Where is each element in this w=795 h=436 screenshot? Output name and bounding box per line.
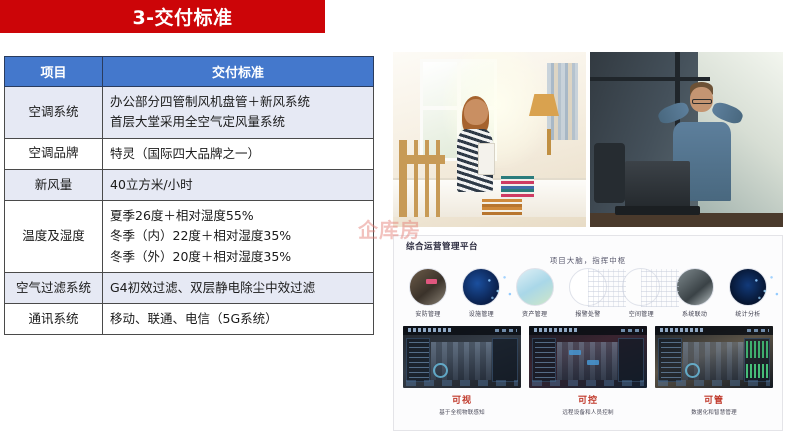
system-link-icon (676, 268, 714, 306)
value-line: 移动、联通、电信（5G系统） (110, 309, 373, 329)
capability-label: 安防管理 (404, 309, 452, 318)
table-row: 空调品牌 特灵（国际四大品牌之一） (5, 138, 374, 169)
panel-footer-shape (406, 380, 518, 386)
space-grid-icon (622, 268, 660, 306)
book-stack-shape (501, 176, 534, 199)
capability-item: 报警处警 (564, 268, 612, 318)
office-chair-shape (594, 143, 625, 203)
alarm-chart-icon (569, 268, 607, 306)
value-line: 40立方米/小时 (110, 175, 373, 195)
capability-label: 报警处警 (564, 309, 612, 318)
bar-chart-shape (746, 341, 768, 358)
row-label: 空调品牌 (5, 138, 103, 169)
capability-item: 安防管理 (404, 268, 452, 318)
capability-label: 设施管理 (457, 309, 505, 318)
info-tag-shape (569, 350, 581, 355)
dashboard-3d-icon (403, 326, 521, 388)
table-row: 新风量 40立方米/小时 (5, 169, 374, 200)
row-label: 空调系统 (5, 87, 103, 139)
column-header-standard: 交付标准 (103, 57, 374, 87)
value-line: 夏季26度＋相对湿度55% (110, 206, 373, 226)
capability-item: 统计分析 (724, 268, 772, 318)
photo-pair (393, 52, 783, 227)
platform-panel: 可控 远程设备和人员控制 (529, 326, 647, 416)
column-header-item: 项目 (5, 57, 103, 87)
spec-table: 项目 交付标准 空调系统 办公部分四管制风机盘管＋新风系统 首层大堂采用全空气定… (4, 56, 374, 335)
platform-panel: 可视 基于全视物联感知 (403, 326, 521, 416)
dashboard-control-icon (529, 326, 647, 388)
row-label: 新风量 (5, 169, 103, 200)
capability-label: 空间管理 (617, 309, 665, 318)
laptop-shape (625, 161, 691, 210)
capability-label: 统计分析 (724, 309, 772, 318)
monitor-shape (478, 143, 495, 175)
row-label: 通讯系统 (5, 304, 103, 335)
window-mullion-shape (590, 77, 710, 81)
panel-left-widget (658, 338, 682, 382)
panel-subcaption: 数据化和智慧管理 (655, 408, 773, 416)
facility-network-icon (462, 268, 500, 306)
row-value: 特灵（国际四大品牌之一） (103, 138, 374, 169)
panel-caption: 可管 (655, 393, 773, 406)
dashboard-manage-icon (655, 326, 773, 388)
panel-heading-shape (408, 328, 452, 332)
title-banner: 3-交付标准 (0, 0, 325, 33)
chair-shape (399, 140, 445, 217)
panel-heading-shape (660, 328, 704, 332)
delivery-standard-table: 项目 交付标准 空调系统 办公部分四管制风机盘管＋新风系统 首层大堂采用全空气定… (4, 56, 373, 335)
platform-panel-list: 可视 基于全视物联感知 可控 远程设备和人员控制 (403, 326, 773, 416)
gauge-ring-shape (685, 363, 700, 378)
desk-shape (590, 213, 783, 227)
info-tag-shape (587, 360, 599, 365)
bar-chart-shape (746, 364, 768, 378)
panel-subcaption: 远程设备和人员控制 (529, 408, 647, 416)
value-line: 首层大堂采用全空气定风量系统 (110, 112, 373, 132)
table-row: 温度及湿度 夏季26度＋相对湿度55% 冬季（内）22度＋相对湿度35% 冬季（… (5, 201, 374, 273)
row-value: G4初效过滤、双层静电除尘中效过滤 (103, 272, 374, 303)
man-relaxing-at-laptop-photo (590, 52, 783, 227)
person-head-shape (464, 99, 488, 125)
value-line: 冬季（外）20度＋相对湿度35% (110, 247, 373, 267)
table-row: 空调系统 办公部分四管制风机盘管＋新风系统 首层大堂采用全空气定风量系统 (5, 87, 374, 139)
panel-footer-shape (532, 380, 644, 386)
eyeglasses-icon (692, 99, 712, 104)
capability-item: 设施管理 (457, 268, 505, 318)
capability-label: 资产管理 (511, 309, 559, 318)
row-label: 空气过滤系统 (5, 272, 103, 303)
value-line: 办公部分四管制风机盘管＋新风系统 (110, 92, 373, 112)
analytics-icon (729, 268, 767, 306)
panel-subcaption: 基于全视物联感知 (403, 408, 521, 416)
gauge-ring-shape (433, 363, 448, 378)
lamp-arm-shape (547, 129, 551, 155)
platform-subtitle: 项目大脑，指挥中枢 (394, 255, 782, 266)
table-row: 空气过滤系统 G4初效过滤、双层静电除尘中效过滤 (5, 272, 374, 303)
operations-platform-graphic: 综合运营管理平台 项目大脑，指挥中枢 安防管理 设施管理 资产管理 报警处警 (393, 235, 783, 431)
panel-right-widget (618, 338, 644, 382)
row-label: 温度及湿度 (5, 201, 103, 273)
table-header-row: 项目 交付标准 (5, 57, 374, 87)
capability-label: 系统联动 (671, 309, 719, 318)
panel-caption: 可视 (403, 393, 521, 406)
platform-title: 综合运营管理平台 (406, 240, 478, 252)
page-title: 3-交付标准 (92, 3, 232, 30)
platform-panel: 可管 数据化和智慧管理 (655, 326, 773, 416)
row-value: 40立方米/小时 (103, 169, 374, 200)
panel-caption: 可控 (529, 393, 647, 406)
platform-capability-list: 安防管理 设施管理 资产管理 报警处警 空间管理 (404, 268, 772, 318)
row-value: 移动、联通、电信（5G系统） (103, 304, 374, 335)
woman-working-at-desk-photo (393, 52, 586, 227)
panel-heading-shape (534, 328, 578, 332)
value-line: 特灵（国际四大品牌之一） (110, 144, 373, 164)
panel-left-widget (532, 338, 556, 382)
panel-right-widget (492, 338, 518, 382)
laptop-base-shape (615, 206, 700, 215)
book-stack-shape (482, 199, 523, 215)
security-icon (409, 268, 447, 306)
slide-root: 3-交付标准 项目 交付标准 空调系统 办公部分四管制风机盘管＋新风系统 首层大… (0, 0, 795, 436)
row-value: 办公部分四管制风机盘管＋新风系统 首层大堂采用全空气定风量系统 (103, 87, 374, 139)
row-value: 夏季26度＋相对湿度55% 冬季（内）22度＋相对湿度35% 冬季（外）20度＋… (103, 201, 374, 273)
panel-left-widget (406, 338, 430, 382)
asset-map-icon (516, 268, 554, 306)
imagery-column: 综合运营管理平台 项目大脑，指挥中枢 安防管理 设施管理 资产管理 报警处警 (393, 52, 791, 432)
panel-footer-shape (658, 380, 770, 386)
value-line: 冬季（内）22度＋相对湿度35% (110, 226, 373, 246)
value-line: G4初效过滤、双层静电除尘中效过滤 (110, 278, 373, 298)
table-row: 通讯系统 移动、联通、电信（5G系统） (5, 304, 374, 335)
